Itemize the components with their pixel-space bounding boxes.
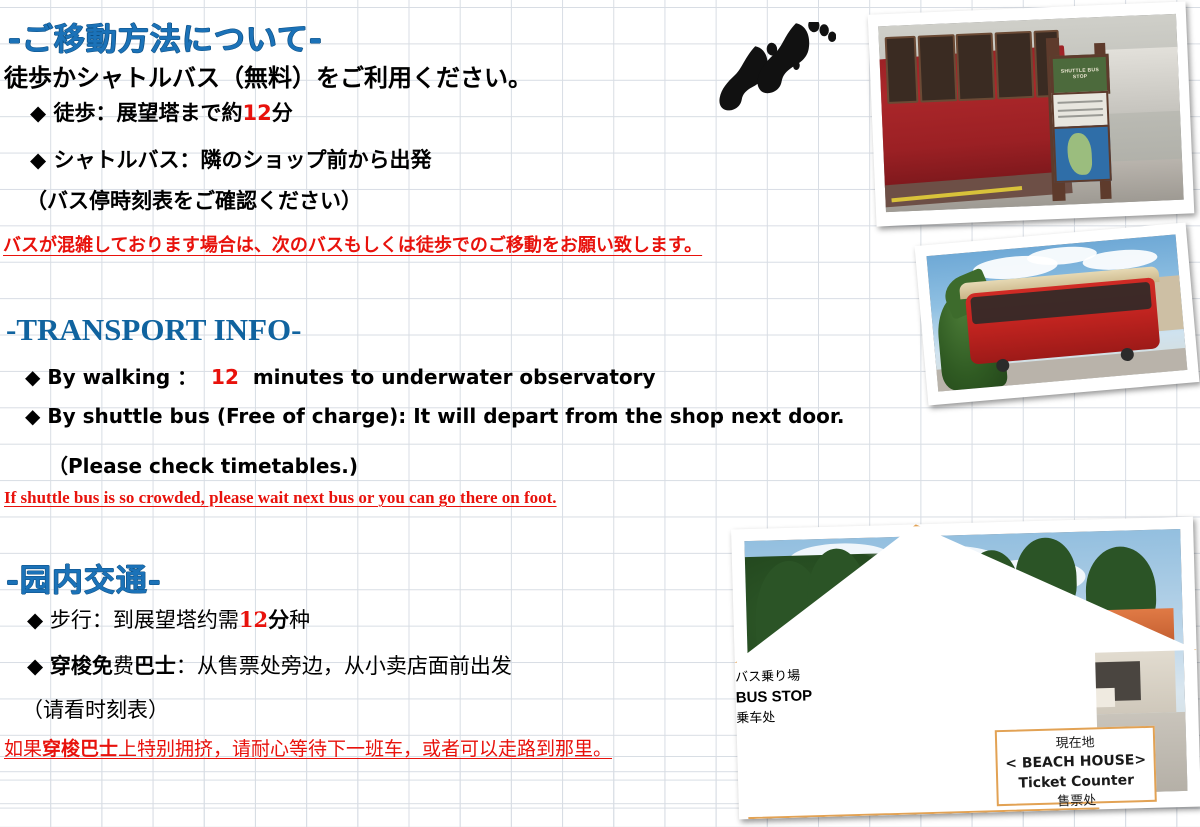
chinese-bullet-walking: ◆ 步行：到展望塔约需12分种 xyxy=(27,604,310,634)
bullet-diamond-icon: ◆ xyxy=(27,654,43,678)
japanese-walking-minutes: 12 xyxy=(242,101,271,125)
chinese-bullet-walking-text: 步行：到展望塔约需 xyxy=(50,608,239,632)
chinese-warning-bold: 穿梭巴士 xyxy=(42,738,118,760)
photo-beach-house-ticket-counter: バス乗り場 BUS STOP 乗车处 現在地 < BEACH HOUSE> Ti… xyxy=(731,517,1200,820)
japanese-bullet-walking-suffix: 分 xyxy=(272,101,293,125)
japanese-bullet-walking-text: 徒歩：展望塔まで約 xyxy=(53,101,242,125)
bullet-diamond-icon: ◆ xyxy=(30,148,46,172)
japanese-lead-text: 徒歩かシャトルバス（無料）をご利用ください。 xyxy=(4,58,532,93)
japanese-section-heading: -ご移動方法について- xyxy=(8,14,323,59)
english-bullet-shuttle: ◆ By shuttle bus (Free of charge): It wi… xyxy=(25,404,845,428)
photo-shuttle-bus-at-stop: SHUTTLE BUS STOP xyxy=(868,1,1195,226)
photo-red-trolley-bus xyxy=(915,222,1200,405)
chinese-warning-text: 如果穿梭巴士上特别拥挤，请耐心等待下一班车，或者可以走路到那里。 xyxy=(4,734,612,761)
bullet-diamond-icon: ◆ xyxy=(27,608,43,632)
japanese-bullet-walking: ◆ 徒歩：展望塔まで約12分 xyxy=(30,97,293,127)
photo-red-trolley-image xyxy=(926,234,1187,391)
chinese-timetable-note: （请看时刻表） xyxy=(22,694,169,724)
shuttle-bus-stop-sign-text: SHUTTLE BUS STOP xyxy=(1053,66,1107,81)
chinese-section-heading: -园内交通- xyxy=(6,555,162,600)
bullet-diamond-icon: ◆ xyxy=(25,404,40,428)
chinese-shuttle-mid1: 费 xyxy=(113,654,134,678)
bullet-diamond-icon: ◆ xyxy=(25,365,40,389)
footprints-icon xyxy=(716,22,836,132)
chinese-walking-minutes: 12 xyxy=(239,607,268,632)
english-warning-text: If shuttle bus is so crowded, please wai… xyxy=(4,488,557,508)
japanese-bullet-shuttle-text: シャトルバス：隣のショップ前から出発 xyxy=(53,148,431,172)
english-bullet-shuttle-text: By shuttle bus (Free of charge): It will… xyxy=(47,404,844,428)
english-bullet-walking-text: By walking ： xyxy=(47,365,197,389)
english-section-heading: -TRANSPORT INFO- xyxy=(6,312,301,348)
callout-ticket-counter: 現在地 < BEACH HOUSE> Ticket Counter 售票处 xyxy=(995,726,1157,806)
english-bullet-walking: ◆ By walking ： 12 minutes to underwater … xyxy=(25,361,656,390)
chinese-bullet-shuttle-suffix: ：从售票处旁边，从小卖店面前出发 xyxy=(176,654,512,678)
chinese-walking-unit: 分 xyxy=(268,607,289,632)
japanese-timetable-note: （バス停時刻表をご確認ください） xyxy=(26,185,362,215)
photo-shuttle-bus-image: SHUTTLE BUS STOP xyxy=(878,14,1184,212)
chinese-shuttle-bold-mid: 巴士 xyxy=(134,653,176,678)
japanese-bullet-shuttle: ◆ シャトルバス：隣のショップ前から出発 xyxy=(30,144,431,174)
chinese-warning-tail: 上特别拥挤，请耐心等待下一班车，或者可以走路到那里。 xyxy=(118,738,612,760)
bullet-diamond-icon: ◆ xyxy=(30,101,46,125)
chinese-bullet-shuttle: ◆ 穿梭免费巴士：从售票处旁边，从小卖店面前出发 xyxy=(27,650,512,680)
english-timetable-note: （Please check timetables.) xyxy=(48,450,358,479)
chinese-warning-head: 如果 xyxy=(4,738,42,760)
callout-bus-stop-text: バス乗り場 BUS STOP 乗车处 xyxy=(735,658,1134,729)
english-bullet-walking-suffix: minutes to underwater observatory xyxy=(253,365,656,389)
chinese-bullet-walking-suffix: 种 xyxy=(289,608,310,632)
english-walking-minutes: 12 xyxy=(211,365,239,389)
japanese-warning-text: バスが混雑しております場合は、次のバスもしくは徒歩でのご移動をお願い致します。 xyxy=(3,231,702,257)
chinese-shuttle-bold-head: 穿梭免 xyxy=(50,653,113,678)
